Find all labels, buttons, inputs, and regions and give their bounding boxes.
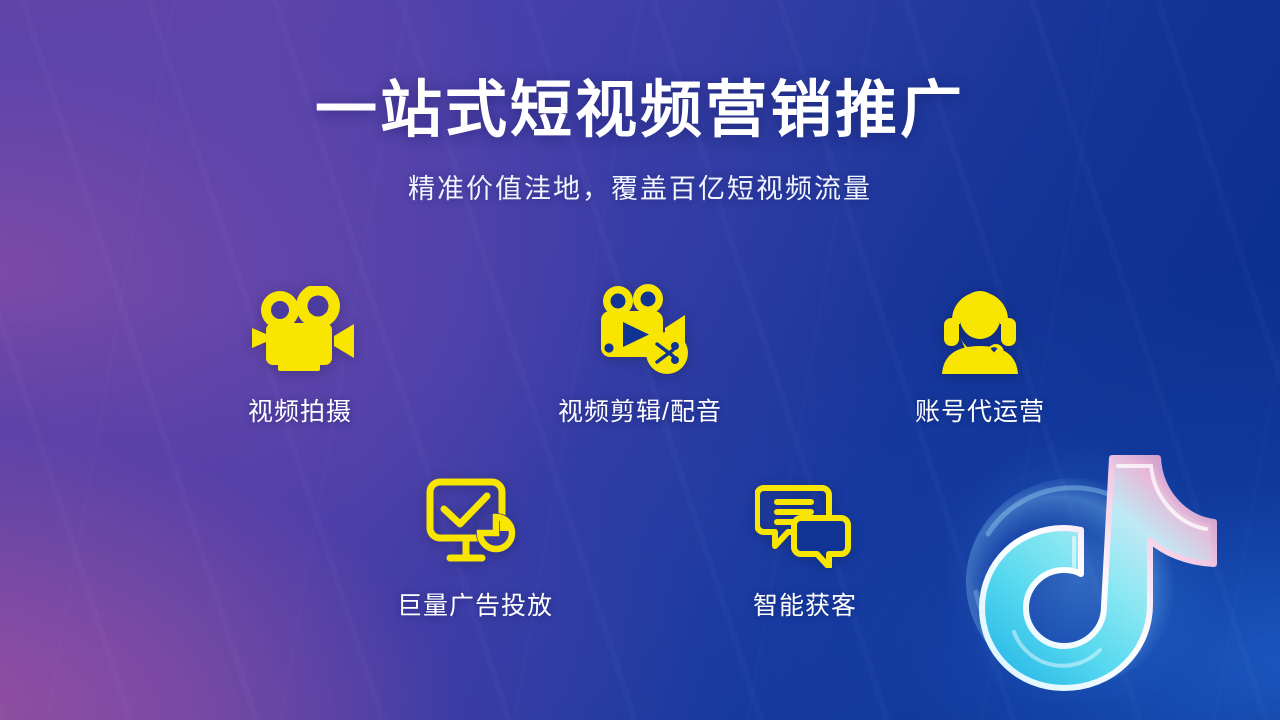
feature-row-secondary: 巨量广告投放 智能获客 bbox=[360, 472, 920, 622]
chat-bubbles-icon bbox=[755, 472, 855, 568]
feature-label: 视频剪辑/配音 bbox=[558, 392, 722, 428]
monitor-check-pie-icon bbox=[424, 472, 526, 568]
feature-row-primary: 视频拍摄 bbox=[190, 278, 1090, 428]
headset-agent-wrench-icon bbox=[930, 278, 1030, 374]
promo-banner: 一站式短视频营销推广 精准价值洼地，覆盖百亿短视频流量 bbox=[0, 0, 1280, 720]
feature-account-operation[interactable]: 账号代运营 bbox=[890, 278, 1070, 428]
feature-ad-placement[interactable]: 巨量广告投放 bbox=[385, 472, 565, 622]
douyin-note-logo bbox=[946, 442, 1236, 702]
video-edit-scissors-icon bbox=[587, 278, 693, 374]
page-subtitle: 精准价值洼地，覆盖百亿短视频流量 bbox=[0, 167, 1280, 206]
feature-video-editing[interactable]: 视频剪辑/配音 bbox=[550, 278, 730, 428]
movie-camera-icon bbox=[244, 278, 356, 374]
feature-label: 巨量广告投放 bbox=[397, 586, 553, 622]
headline-block: 一站式短视频营销推广 精准价值洼地，覆盖百亿短视频流量 bbox=[0, 78, 1280, 206]
feature-label: 视频拍摄 bbox=[248, 392, 352, 428]
feature-smart-acquisition[interactable]: 智能获客 bbox=[715, 472, 895, 622]
page-title: 一站式短视频营销推广 bbox=[0, 78, 1280, 145]
feature-video-shooting[interactable]: 视频拍摄 bbox=[210, 278, 390, 428]
feature-label: 智能获客 bbox=[753, 586, 857, 622]
feature-label: 账号代运营 bbox=[915, 392, 1045, 428]
